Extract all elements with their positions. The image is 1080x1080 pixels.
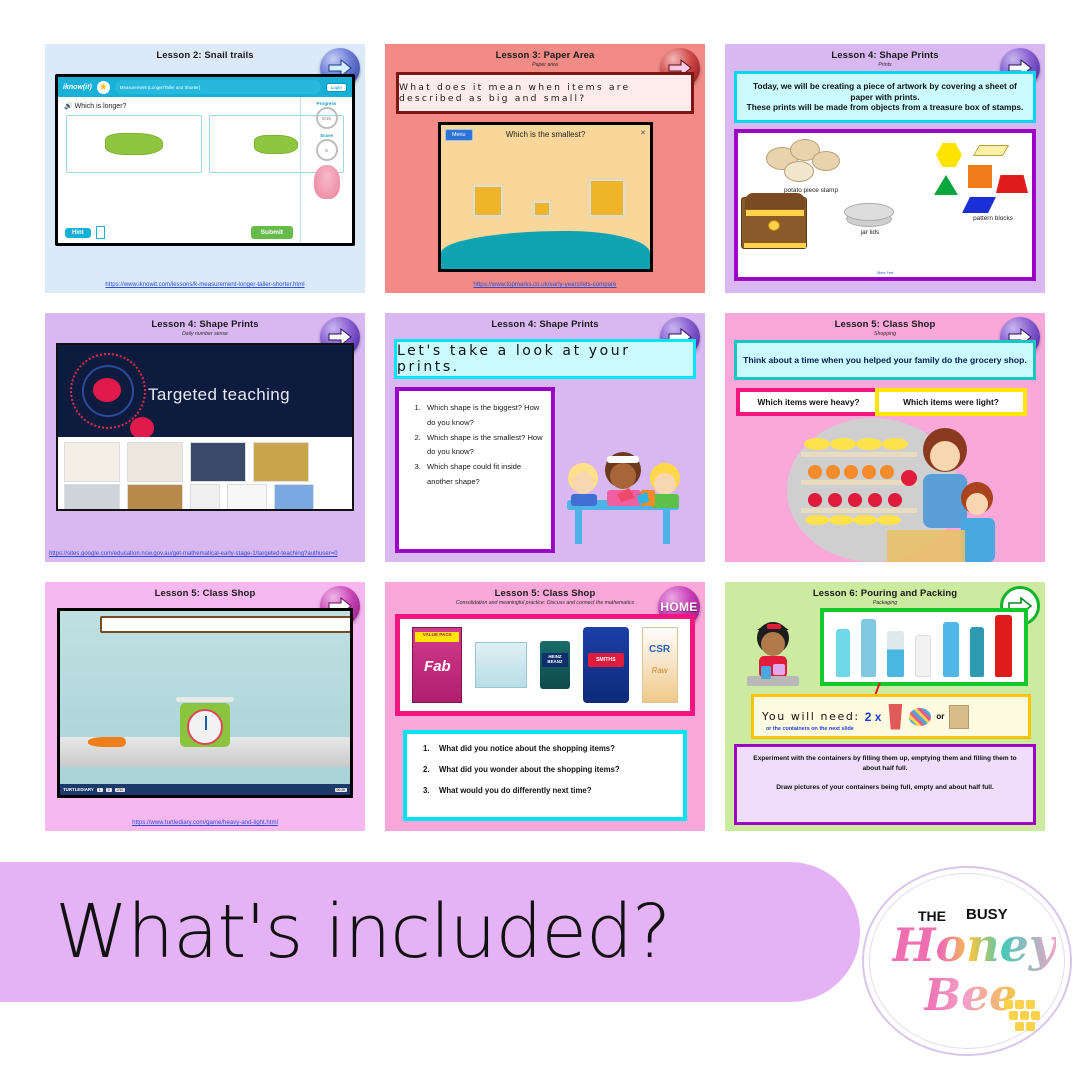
choice-option[interactable]	[66, 115, 202, 173]
card-title: Lesson 2: Snail trails	[45, 50, 365, 61]
headline-banner: Let's take a look at your prints.	[394, 339, 696, 379]
logo-honey-text: Honey	[892, 918, 1056, 972]
or-label: or	[936, 712, 944, 721]
potato-icon	[812, 151, 840, 171]
rice-bag-icon	[949, 705, 969, 729]
source-url[interactable]: https://sites.google.com/education.nsw.g…	[45, 550, 365, 559]
gallery-item[interactable]	[64, 442, 120, 482]
caption-patternblocks: pattern blocks	[958, 215, 1028, 222]
thong-image-large	[105, 133, 163, 155]
honeycomb-icon	[1004, 1000, 1046, 1032]
app-topbar: iknow(it) ★ Measurement (Longer/Taller a…	[58, 77, 352, 97]
card-subtitle: Paper area	[385, 62, 705, 68]
card-title: Lesson 4: Shape Prints	[45, 319, 365, 330]
turtlediary-screenshot: Click on each object to weigh it. TURTLE…	[57, 608, 353, 798]
jar-largest	[589, 179, 625, 217]
scale-dial	[187, 709, 223, 745]
slide-card-lesson4-look-at-prints[interactable]: Lesson 4: Shape Prints Let's take a look…	[385, 313, 705, 562]
whats-included-banner: What's included?	[0, 862, 860, 1002]
login-button[interactable]: Login	[326, 83, 347, 92]
product-sugar: CSR Raw	[642, 627, 678, 703]
slide-card-lesson5-class-shop-items[interactable]: Lesson 5: Class Shop Consolidation and m…	[385, 582, 705, 831]
game-footer: TURTLEDIARY 1 0 2/10 00:26	[60, 784, 350, 795]
card-title: Lesson 3: Paper Area	[385, 50, 705, 61]
children-craft-illustration	[555, 438, 693, 550]
jar-small	[533, 201, 551, 217]
shopping-items-shelf: VALUE PACK Fab HEINZBEANZ SMITHS CSR Raw	[395, 614, 695, 716]
close-icon[interactable]: ✕	[640, 129, 646, 137]
card-subtitle: Prints	[725, 62, 1045, 68]
topic-label: Measurement (Longer/Taller and Shorter)	[115, 80, 321, 94]
slide-card-lesson4-targeted-teaching[interactable]: Lesson 4: Shape Prints Daily number sens…	[45, 313, 365, 562]
action-bar: Hint Submit	[58, 226, 300, 239]
banner-title: What's included?	[55, 889, 670, 975]
bottle-icon	[915, 635, 931, 677]
bottle-icon	[995, 615, 1012, 677]
score-chip: 1	[97, 788, 103, 792]
card-title: Lesson 4: Shape Prints	[385, 319, 705, 330]
questions-panel: Which shape is the biggest? How do you k…	[395, 387, 555, 553]
slide-card-lesson2-snail-trails[interactable]: Lesson 2: Snail trails iknow(it) ★ Measu…	[45, 44, 365, 293]
slide-card-lesson5-class-shop-think[interactable]: Lesson 5: Class Shop Shopping Think abou…	[725, 313, 1045, 562]
card-subtitle: Packaging	[725, 600, 1045, 606]
bottle-icon	[943, 622, 959, 677]
sea-background	[441, 231, 650, 269]
gallery-item[interactable]	[190, 484, 220, 511]
topmarks-game-screenshot: Menu ✕ Which is the smallest?	[438, 122, 653, 272]
containers-photo	[820, 608, 1028, 686]
scale-plate	[176, 697, 234, 702]
square-shape	[968, 165, 992, 188]
carrot-icon[interactable]	[88, 737, 126, 747]
progress-label: Progress	[301, 101, 352, 106]
card-title: Lesson 5: Class Shop	[45, 588, 365, 599]
bottle-icon	[970, 627, 984, 677]
game-instruction: Click on each object to weigh it.	[100, 616, 350, 633]
prompt-banner: Think about a time when you helped your …	[734, 340, 1036, 380]
progress-chip: 2/10	[115, 788, 126, 792]
slide-card-lesson4-shape-prints-intro[interactable]: Lesson 4: Shape Prints Prints Today, we …	[725, 44, 1045, 293]
product-beans: HEINZBEANZ	[540, 641, 570, 689]
question-light: Which items were light?	[875, 388, 1027, 416]
iknowit-logo: iknow(it)	[63, 84, 92, 91]
cup-icon	[886, 704, 904, 730]
ruler-icon[interactable]	[96, 226, 105, 239]
gallery-item[interactable]	[190, 442, 246, 482]
treasure-chest-icon	[741, 197, 807, 249]
card-title: Lesson 5: Class Shop	[385, 588, 705, 599]
score-label: Score	[301, 133, 352, 138]
score-sidebar: Progress 0/15 Score 0	[300, 97, 352, 243]
targeted-teaching-screenshot: Targeted teaching	[56, 343, 354, 511]
slide-heading: Targeted teaching	[148, 385, 290, 405]
question-item: Which shape is the biggest? How do you k…	[423, 401, 545, 431]
gallery-item[interactable]	[64, 484, 120, 511]
product-tissues	[475, 642, 527, 688]
trapezoid-shape	[996, 175, 1028, 193]
rhombus-shape	[973, 145, 1009, 156]
question-row: 2.What did you wonder about the shopping…	[415, 765, 675, 774]
girl-pouring-illustration	[739, 620, 807, 690]
question-row: 1.What did you notice about the shopping…	[415, 744, 675, 753]
iknowit-screenshot: iknow(it) ★ Measurement (Longer/Taller a…	[55, 74, 355, 246]
need-subtext: or the containers on the next slide	[766, 726, 854, 732]
instruction-line-1: Experiment with the containers by fillin…	[747, 754, 1023, 774]
beads-icon	[909, 708, 931, 726]
discussion-questions-panel: 1.What did you notice about the shopping…	[403, 730, 687, 821]
card-title: Lesson 6: Pouring and Packing	[725, 588, 1045, 599]
source-url[interactable]: https://www.topmarks.co.uk/early-years/l…	[385, 280, 705, 289]
bottle-icon	[861, 619, 876, 677]
need-quantity: 2 x	[865, 710, 882, 724]
card-title: Lesson 4: Shape Prints	[725, 50, 1045, 61]
card-subtitle: Consolidation and meaningful practice: D…	[385, 600, 705, 606]
gallery-item[interactable]	[274, 484, 314, 511]
bottle-icon	[887, 631, 904, 677]
mascot-icon	[314, 165, 340, 199]
scale-needle	[205, 716, 207, 730]
jar-large	[473, 185, 503, 217]
gallery-item[interactable]	[127, 442, 183, 482]
weighing-scale[interactable]	[176, 697, 234, 747]
submit-button[interactable]: Submit	[251, 226, 293, 239]
question-row: 3.What would you do differently next tim…	[415, 786, 675, 795]
brand-logo: THE BUSY Honey Bee	[862, 866, 1072, 1056]
materials-needed-banner: You will need: 2 x or or the containers …	[751, 694, 1031, 739]
need-label: You will need:	[762, 710, 860, 723]
menu-button[interactable]: Menu	[445, 129, 473, 141]
materials-panel: potato piece stamp jar lids pattern bloc…	[734, 129, 1036, 281]
turtlediary-logo: TURTLEDIARY	[63, 787, 94, 792]
thong-image-small	[254, 135, 298, 154]
question-item: Which shape is the smallest? How do you …	[423, 431, 545, 461]
triangle-shape	[934, 175, 958, 195]
card-subtitle: Shopping	[725, 331, 1045, 337]
red-dot-icon	[93, 378, 121, 402]
question-item: Which shape could fit inside another sha…	[423, 460, 545, 490]
parallelogram-shape	[962, 197, 996, 213]
gallery-item[interactable]	[127, 484, 183, 511]
experiment-instructions: Experiment with the containers by fillin…	[734, 744, 1036, 825]
gallery-row	[64, 442, 346, 482]
product-fab: VALUE PACK Fab	[412, 627, 462, 703]
gallery-row	[64, 484, 346, 511]
source-url[interactable]: https://www.iknowit.com/lessons/k-measur…	[45, 280, 365, 289]
instruction-line-2: Draw pictures of your containers being f…	[747, 783, 1023, 793]
potato-icon	[784, 161, 814, 182]
score-value: 0	[316, 139, 338, 161]
card-subtitle: Daily number sense	[45, 331, 365, 337]
slide-card-lesson5-class-shop-scale[interactable]: Lesson 5: Class Shop Click on each objec…	[45, 582, 365, 831]
hint-button[interactable]: Hint	[65, 228, 91, 238]
star-icon: ★	[97, 81, 110, 94]
gallery-item[interactable]	[253, 442, 309, 482]
bottle-icon	[836, 629, 850, 677]
resource-gallery	[58, 437, 352, 509]
credit-text: Slides Feet	[738, 271, 1032, 275]
source-url[interactable]: https://www.turtlediary.com/game/heavy-a…	[45, 818, 365, 827]
hexagon-shape	[936, 143, 962, 167]
slide-thumbnail-grid: Lesson 2: Snail trails iknow(it) ★ Measu…	[45, 44, 1045, 837]
jar-lid-icon	[844, 203, 894, 221]
red-dot-icon	[130, 417, 154, 439]
question-heavy: Which items were heavy?	[736, 388, 881, 416]
caption-jarlids: jar lids	[844, 229, 896, 236]
grocery-shopping-illustration	[777, 418, 1003, 562]
product-chips: SMITHS	[583, 627, 629, 703]
timer-chip: 00:26	[335, 788, 348, 792]
slide-card-lesson6-pouring-packing[interactable]: Lesson 6: Pouring and Packing Packaging	[725, 582, 1045, 831]
wrong-chip: 0	[106, 788, 112, 792]
progress-value: 0/15	[316, 107, 338, 129]
question-banner: What does it mean when items are describ…	[396, 72, 694, 114]
slide-card-lesson3-paper-area[interactable]: Lesson 3: Paper Area Paper area What doe…	[385, 44, 705, 293]
scale-body	[180, 703, 230, 747]
gallery-item[interactable]	[227, 484, 267, 511]
lesson-intro-text: Today, we will be creating a piece of ar…	[734, 71, 1036, 123]
card-title: Lesson 5: Class Shop	[725, 319, 1045, 330]
